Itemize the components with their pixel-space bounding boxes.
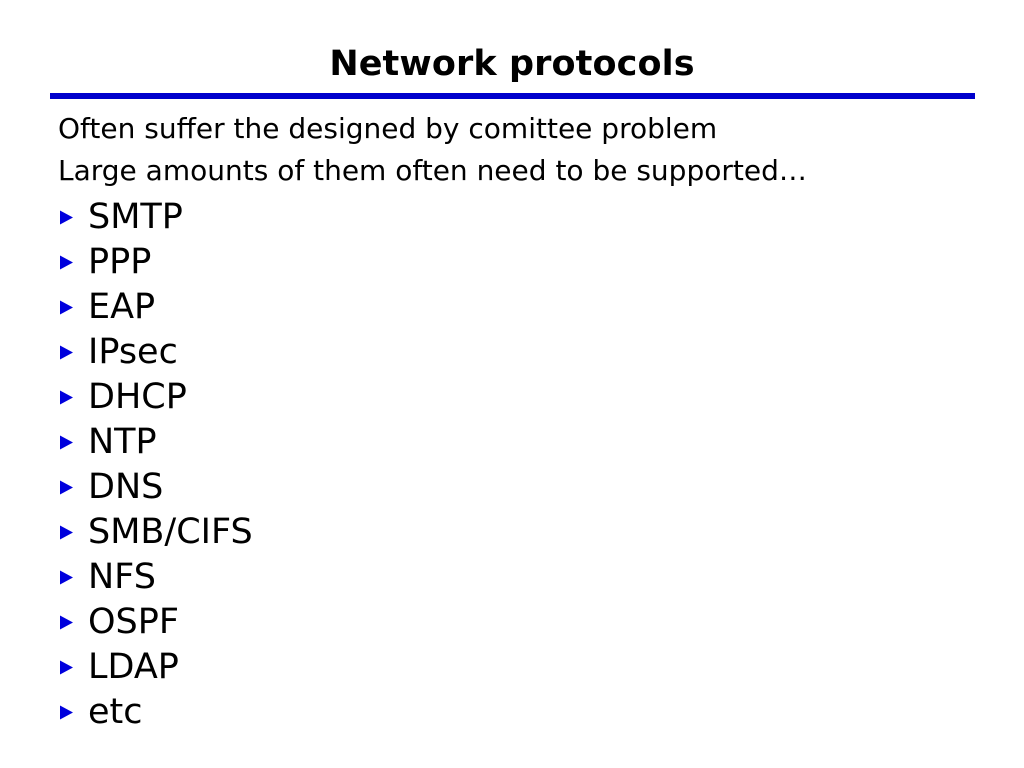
list-item: NTP xyxy=(58,420,998,465)
triangle-right-icon xyxy=(58,479,88,496)
list-item-label: DNS xyxy=(88,465,163,510)
list-item: PPP xyxy=(58,240,998,285)
list-item: etc xyxy=(58,690,998,735)
triangle-right-icon xyxy=(58,299,88,316)
list-item: OSPF xyxy=(58,600,998,645)
title-divider xyxy=(50,93,975,99)
list-item-label: etc xyxy=(88,690,143,735)
page-title: Network protocols xyxy=(0,46,1024,83)
list-item-label: SMTP xyxy=(88,195,183,240)
triangle-right-icon xyxy=(58,659,88,676)
triangle-right-icon xyxy=(58,704,88,721)
list-item-label: PPP xyxy=(88,240,151,285)
slide-body: Often suffer the designed by comittee pr… xyxy=(58,108,998,735)
list-item: EAP xyxy=(58,285,998,330)
triangle-right-icon xyxy=(58,344,88,361)
intro-line-1: Often suffer the designed by comittee pr… xyxy=(58,108,998,150)
list-item: DNS xyxy=(58,465,998,510)
triangle-right-icon xyxy=(58,389,88,406)
list-item-label: EAP xyxy=(88,285,155,330)
list-item-label: DHCP xyxy=(88,375,187,420)
triangle-right-icon xyxy=(58,524,88,541)
list-item: DHCP xyxy=(58,375,998,420)
list-item: SMB/CIFS xyxy=(58,510,998,555)
list-item: NFS xyxy=(58,555,998,600)
triangle-right-icon xyxy=(58,569,88,586)
slide: Network protocols Often suffer the desig… xyxy=(0,0,1024,768)
list-item-label: IPsec xyxy=(88,330,178,375)
list-item-label: NTP xyxy=(88,420,157,465)
list-item: IPsec xyxy=(58,330,998,375)
list-item-label: OSPF xyxy=(88,600,179,645)
triangle-right-icon xyxy=(58,614,88,631)
intro-line-2: Large amounts of them often need to be s… xyxy=(58,150,998,192)
list-item-label: SMB/CIFS xyxy=(88,510,253,555)
list-item: LDAP xyxy=(58,645,998,690)
triangle-right-icon xyxy=(58,254,88,271)
triangle-right-icon xyxy=(58,209,88,226)
list-item: SMTP xyxy=(58,195,998,240)
list-item-label: NFS xyxy=(88,555,156,600)
triangle-right-icon xyxy=(58,434,88,451)
protocol-list: SMTP PPP EAP IPsec xyxy=(58,195,998,735)
list-item-label: LDAP xyxy=(88,645,179,690)
